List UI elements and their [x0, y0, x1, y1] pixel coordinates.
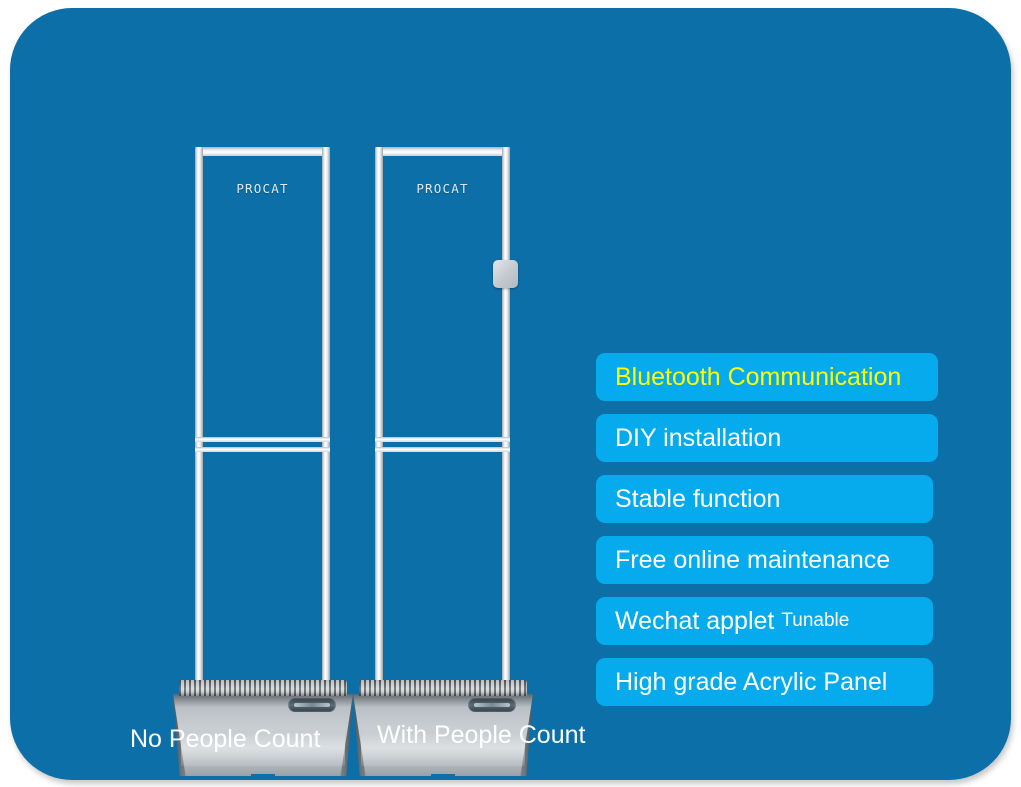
caption-no-people-count: No People Count: [130, 725, 320, 754]
feature-label: Free online maintenance: [615, 546, 890, 575]
frame-left-rail: [375, 147, 383, 692]
feature-item-wechat-applet[interactable]: Wechat applet Tunable: [596, 597, 933, 645]
frame-crossbar-upper: [375, 437, 510, 442]
feature-sublabel: Tunable: [781, 610, 849, 632]
frame-right-rail: [322, 147, 330, 692]
feature-list: Bluetooth Communication DIY installation…: [596, 353, 938, 719]
brand-label: PROCAT: [375, 181, 510, 196]
feature-item-diy-installation[interactable]: DIY installation: [596, 414, 938, 462]
antenna-frame: PROCAT: [375, 147, 510, 692]
feature-item-bluetooth-communication[interactable]: Bluetooth Communication: [596, 353, 938, 401]
caption-with-people-count: With People Count: [377, 721, 585, 750]
base-vent-ribbon: [359, 680, 527, 696]
feature-item-free-online-maintenance[interactable]: Free online maintenance: [596, 536, 933, 584]
people-counter-sensor-icon: [493, 260, 518, 288]
feature-item-high-grade-acrylic-panel[interactable]: High grade Acrylic Panel: [596, 658, 933, 706]
slide-canvas: PROCAT PROCAT: [0, 0, 1021, 787]
frame-crossbar-lower: [375, 447, 510, 452]
feature-item-stable-function[interactable]: Stable function: [596, 475, 933, 523]
feature-label: DIY installation: [615, 424, 781, 453]
frame-left-rail: [195, 147, 203, 692]
antenna-frame: PROCAT: [195, 147, 330, 692]
frame-top-rail: [375, 147, 510, 156]
base-vent-ribbon: [179, 680, 347, 696]
base-logo-badge: [468, 698, 516, 712]
frame-right-rail: [502, 147, 510, 692]
feature-label: Stable function: [615, 485, 780, 514]
frame-top-rail: [195, 147, 330, 156]
feature-label: Bluetooth Communication: [615, 363, 901, 392]
feature-label: Wechat applet: [615, 607, 774, 636]
base-notch: [431, 774, 455, 780]
frame-crossbar-upper: [195, 437, 330, 442]
base-notch: [251, 774, 275, 780]
feature-label: High grade Acrylic Panel: [615, 668, 887, 697]
brand-label: PROCAT: [195, 181, 330, 196]
base-logo-badge: [288, 698, 336, 712]
frame-crossbar-lower: [195, 447, 330, 452]
blue-panel: PROCAT PROCAT: [10, 8, 1011, 780]
